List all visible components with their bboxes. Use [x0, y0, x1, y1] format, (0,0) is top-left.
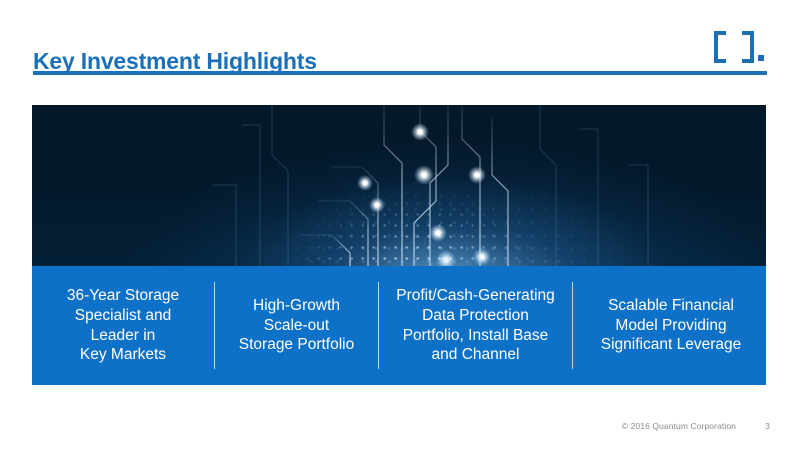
- pillar-divider: [214, 282, 215, 369]
- highlight-item-scale-out-portfolio: High-Growth Scale-out Storage Portfolio: [215, 296, 378, 355]
- hero-panel: 36-Year Storage Specialist and Leader in…: [32, 105, 766, 385]
- quantum-bracket-logo-icon: [712, 31, 770, 65]
- slide-footer: © 2016 Quantum Corporation 3: [622, 421, 770, 431]
- highlights-list: 36-Year Storage Specialist and Leader in…: [32, 266, 766, 385]
- highlight-item-data-protection: Profit/Cash-Generating Data Protection P…: [379, 286, 572, 365]
- pillar-divider: [378, 282, 379, 369]
- pillar-divider: [572, 282, 573, 369]
- highlight-item-storage-specialist: 36-Year Storage Specialist and Leader in…: [32, 286, 214, 365]
- hero-dot-matrix: [280, 105, 610, 266]
- highlight-item-financial-model: Scalable Financial Model Providing Signi…: [573, 296, 766, 355]
- highlights-band: 36-Year Storage Specialist and Leader in…: [32, 266, 766, 385]
- page-number: 3: [762, 421, 770, 431]
- title-underline-rule: [33, 71, 767, 75]
- hero-technology-artwork: [32, 105, 766, 266]
- copyright-notice: © 2016 Quantum Corporation: [622, 421, 736, 431]
- slide-canvas: Key Investment Highlights: [0, 0, 800, 451]
